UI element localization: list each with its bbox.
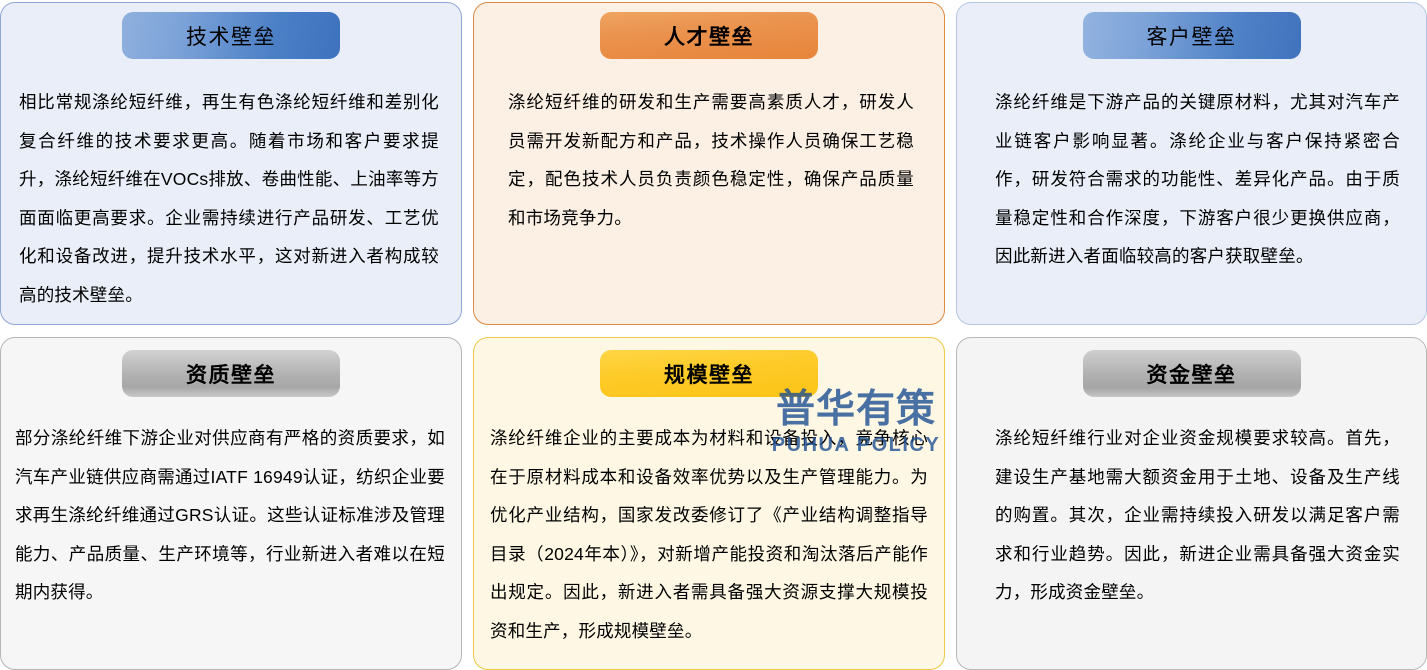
card-title-pill-capital: 资金壁垒 [1083,350,1301,397]
card-title-scale: 规模壁垒 [664,359,754,389]
card-title-technology: 技术壁垒 [186,21,276,51]
card-body-qualification: 部分涤纶纤维下游企业对供应商有严格的资质要求，如汽车产业链供应商需通过IATF … [15,419,445,612]
card-body-technology: 相比常规涤纶短纤维，再生有色涤纶短纤维和差别化复合纤维的技术要求更高。随着市场和… [19,83,439,314]
card-technology-barrier: 技术壁垒 相比常规涤纶短纤维，再生有色涤纶短纤维和差别化复合纤维的技术要求更高。… [0,2,462,325]
card-capital-barrier: 资金壁垒 涤纶短纤维行业对企业资金规模要求较高。首先，建设生产基地需大额资金用于… [956,337,1427,670]
card-talent-barrier: 人才壁垒 涤纶短纤维的研发和生产需要高素质人才，研发人员需开发新配方和产品，技术… [473,2,945,325]
card-title-pill-technology: 技术壁垒 [122,12,340,59]
card-title-pill-qualification: 资质壁垒 [122,350,340,397]
card-title-pill-talent: 人才壁垒 [600,12,818,59]
card-title-pill-scale: 规模壁垒 [600,350,818,397]
card-body-scale: 涤纶纤维企业的主要成本为材料和设备投入，竞争核心在于原材料成本和设备效率优势以及… [490,419,928,650]
card-qualification-barrier: 资质壁垒 部分涤纶纤维下游企业对供应商有严格的资质要求，如汽车产业链供应商需通过… [0,337,462,670]
card-body-capital: 涤纶短纤维行业对企业资金规模要求较高。首先，建设生产基地需大额资金用于土地、设备… [995,419,1400,612]
card-title-customer: 客户壁垒 [1147,21,1237,51]
card-title-capital: 资金壁垒 [1147,359,1237,389]
barriers-grid: 技术壁垒 相比常规涤纶短纤维，再生有色涤纶短纤维和差别化复合纤维的技术要求更高。… [0,0,1427,670]
card-title-pill-customer: 客户壁垒 [1083,12,1301,59]
card-title-qualification: 资质壁垒 [186,359,276,389]
card-scale-barrier: 规模壁垒 涤纶纤维企业的主要成本为材料和设备投入，竞争核心在于原材料成本和设备效… [473,337,945,670]
card-body-talent: 涤纶短纤维的研发和生产需要高素质人才，研发人员需开发新配方和产品，技术操作人员确… [508,83,914,237]
card-customer-barrier: 客户壁垒 涤纶纤维是下游产品的关键原材料，尤其对汽车产业链客户影响显著。涤纶企业… [956,2,1427,325]
card-body-customer: 涤纶纤维是下游产品的关键原材料，尤其对汽车产业链客户影响显著。涤纶企业与客户保持… [995,83,1400,276]
card-title-talent: 人才壁垒 [664,21,754,51]
